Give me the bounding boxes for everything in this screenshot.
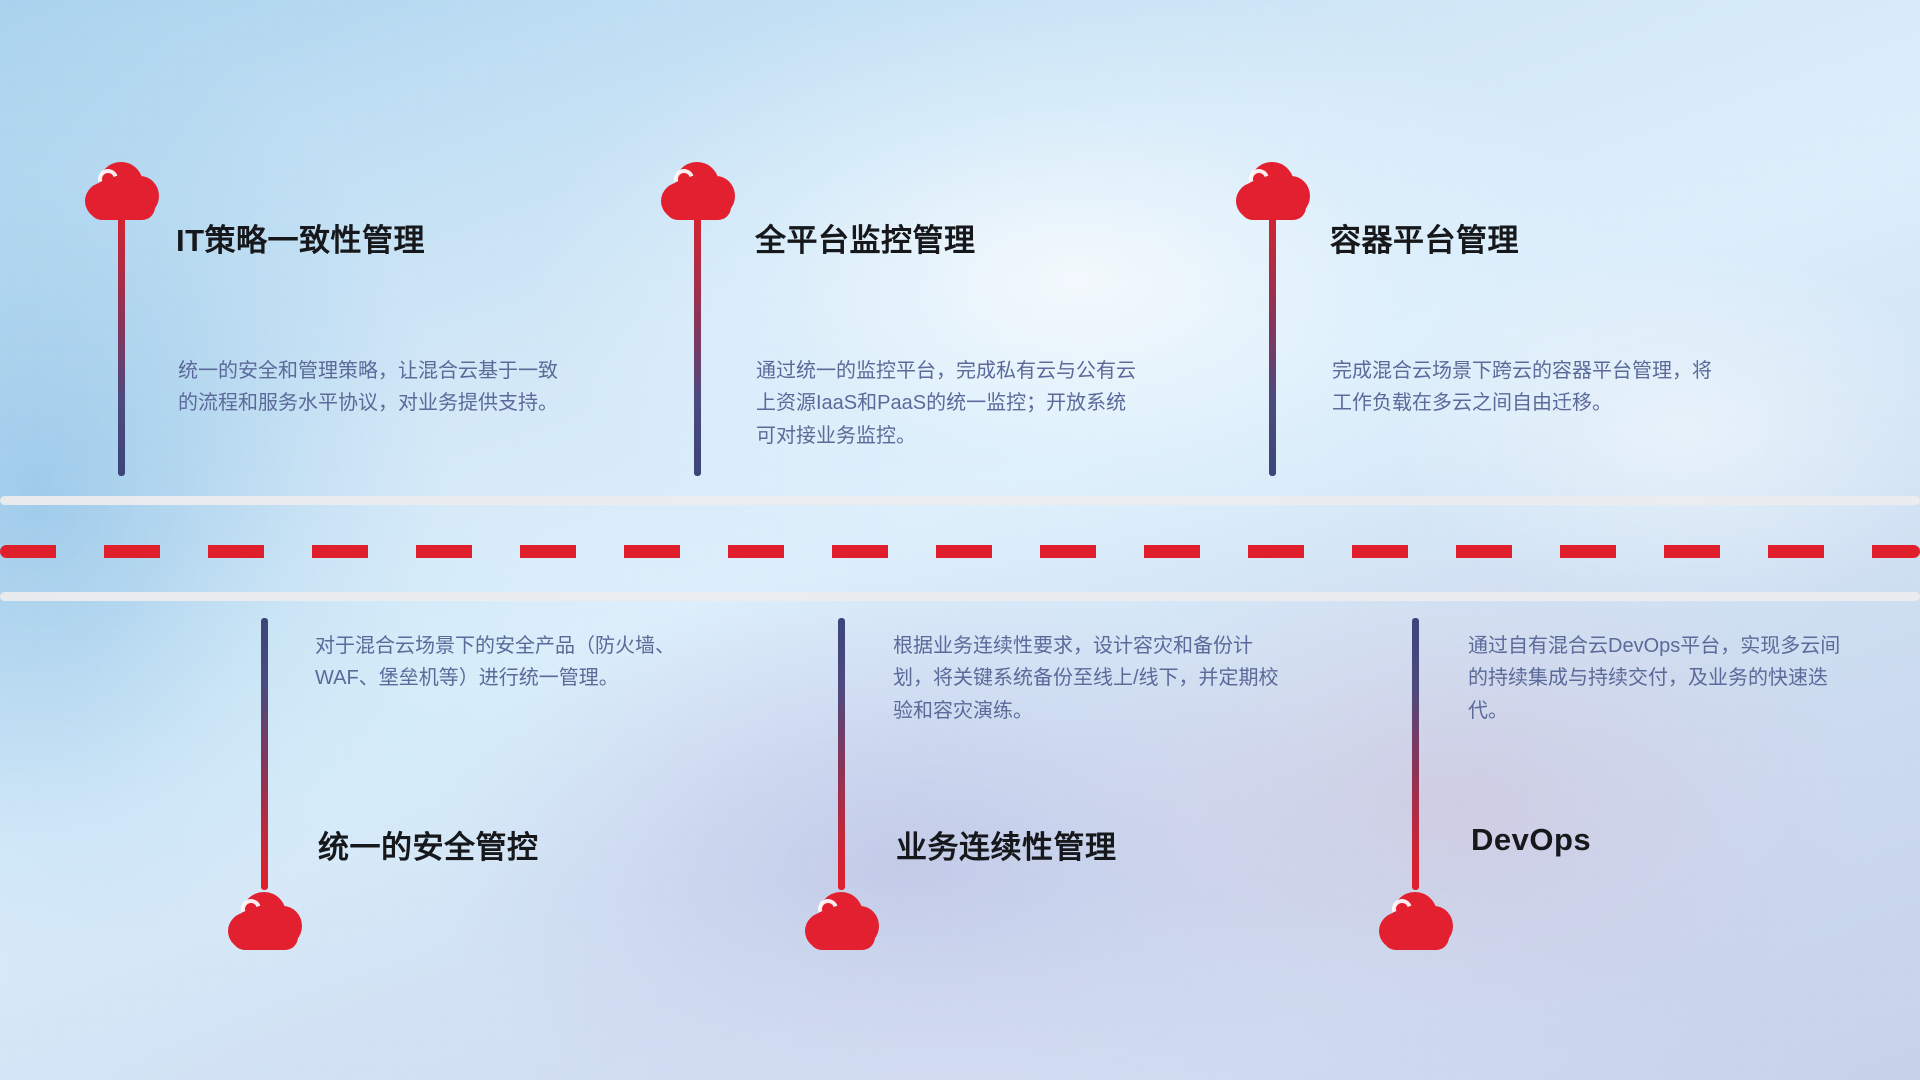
cloud-base bbox=[809, 924, 875, 950]
pin-stem bbox=[261, 618, 268, 890]
road-center-dashed-line bbox=[0, 545, 1920, 558]
infographic-canvas: IT策略一致性管理 统一的安全和管理策略，让混合云基于一致的流程和服务水平协议，… bbox=[0, 0, 1920, 1080]
item-description: 统一的安全和管理策略，让混合云基于一致的流程和服务水平协议，对业务提供支持。 bbox=[178, 355, 566, 420]
cloud-base bbox=[1383, 924, 1449, 950]
road-edge-line-bottom bbox=[0, 592, 1920, 601]
item-title: IT策略一致性管理 bbox=[176, 215, 425, 260]
item-description: 通过统一的监控平台，完成私有云与公有云上资源IaaS和PaaS的统一监控；开放系… bbox=[756, 355, 1144, 452]
cloud-pin-icon[interactable] bbox=[85, 160, 159, 222]
item-title: 统一的安全管控 bbox=[318, 822, 539, 867]
cloud-pin-icon[interactable] bbox=[228, 890, 302, 952]
item-title: DevOps bbox=[1471, 822, 1591, 858]
cloud-base bbox=[665, 194, 731, 220]
road-edge-line-top bbox=[0, 496, 1920, 505]
cloud-pin-icon[interactable] bbox=[805, 890, 879, 952]
item-description: 根据业务连续性要求，设计容灾和备份计划，将关键系统备份至线上/线下，并定期校验和… bbox=[893, 630, 1281, 727]
cloud-pin-icon[interactable] bbox=[661, 160, 735, 222]
cloud-pin-icon[interactable] bbox=[1236, 160, 1310, 222]
item-title: 容器平台管理 bbox=[1330, 215, 1519, 260]
pin-stem bbox=[1412, 618, 1419, 890]
cloud-base bbox=[1240, 194, 1306, 220]
pin-stem bbox=[838, 618, 845, 890]
cloud-base bbox=[89, 194, 155, 220]
item-description: 对于混合云场景下的安全产品（防火墙、WAF、堡垒机等）进行统一管理。 bbox=[315, 630, 703, 695]
item-title: 全平台监控管理 bbox=[755, 215, 976, 260]
cloud-base bbox=[232, 924, 298, 950]
cloud-pin-icon[interactable] bbox=[1379, 890, 1453, 952]
item-title: 业务连续性管理 bbox=[896, 822, 1117, 867]
item-description: 通过自有混合云DevOps平台，实现多云间的持续集成与持续交付，及业务的快速迭代… bbox=[1468, 630, 1856, 727]
item-description: 完成混合云场景下跨云的容器平台管理，将工作负载在多云之间自由迁移。 bbox=[1332, 355, 1720, 420]
